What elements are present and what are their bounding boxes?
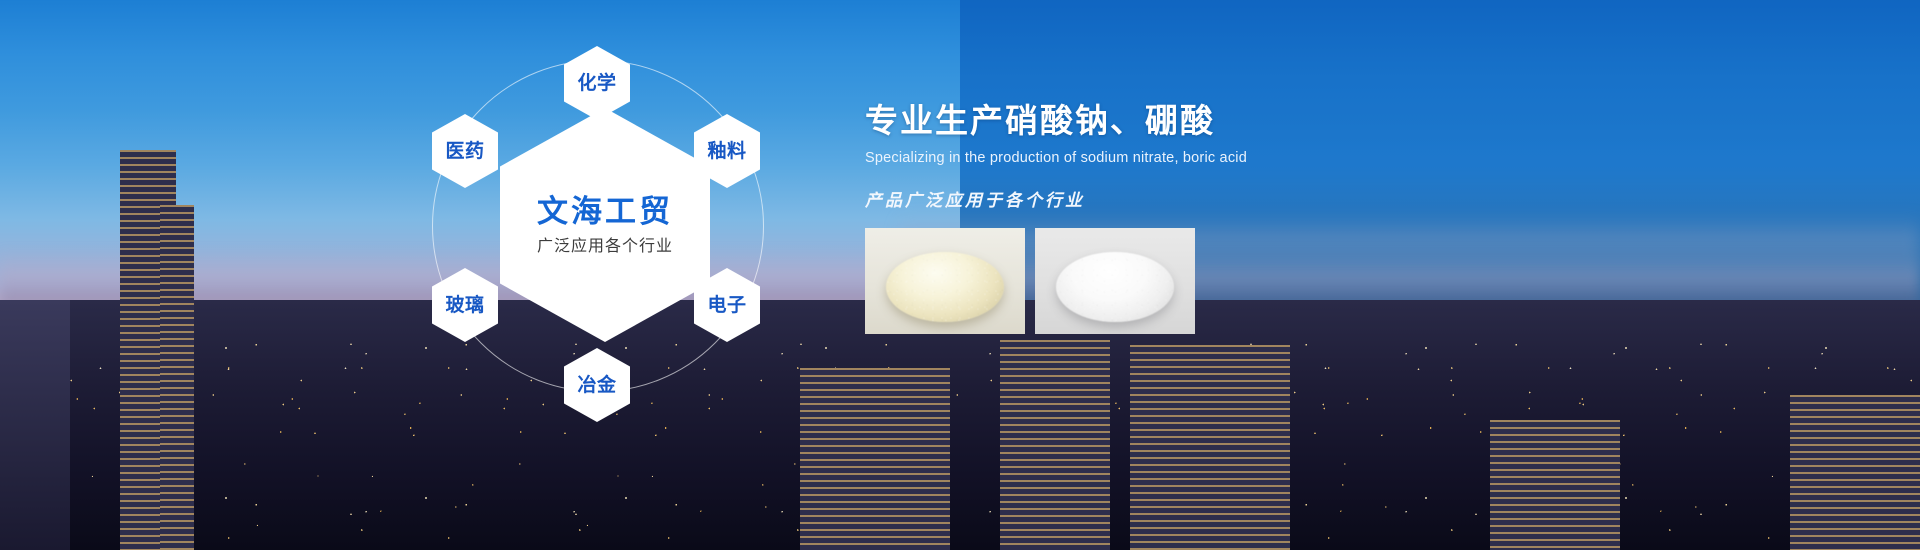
product-photo-boric-acid — [1035, 228, 1195, 334]
industry-hexagon-cluster: 化学 釉料 电子 冶金 玻璃 医药 文海工贸 广泛应用各个行业 — [370, 10, 840, 480]
powder-pile — [886, 252, 1004, 322]
hexagon-label: 化学 — [577, 74, 616, 93]
hexagon-label: 电子 — [707, 296, 746, 315]
hexagon-label: 釉料 — [707, 142, 746, 161]
headline-subtitle-en: Specializing in the production of sodium… — [865, 150, 1565, 166]
skyscraper — [1490, 420, 1620, 550]
skyscraper — [1000, 340, 1110, 550]
promo-banner: 化学 釉料 电子 冶金 玻璃 医药 文海工贸 广泛应用各个行业 专业生产硝酸钠、… — [0, 0, 1920, 550]
brand-slogan: 广泛应用各个行业 — [537, 238, 673, 256]
skyscraper — [1790, 395, 1920, 550]
hexagon-label: 玻璃 — [445, 296, 484, 315]
powder-pile — [1056, 252, 1174, 322]
hexagon-label: 冶金 — [577, 376, 616, 395]
product-photo-group — [865, 228, 1195, 334]
city-lights — [0, 300, 1920, 550]
headline-block: 专业生产硝酸钠、硼酸 Specializing in the productio… — [865, 100, 1565, 211]
hexagon-label: 医药 — [445, 142, 484, 161]
brand-name: 文海工贸 — [537, 195, 673, 229]
skyscraper — [160, 205, 194, 550]
headline-tagline: 产品广泛应用于各个行业 — [865, 186, 1565, 211]
headline-title: 专业生产硝酸钠、硼酸 — [865, 100, 1565, 141]
skyscraper — [1130, 345, 1290, 550]
skyscraper — [0, 300, 70, 550]
product-photo-sodium-nitrate — [865, 228, 1025, 334]
